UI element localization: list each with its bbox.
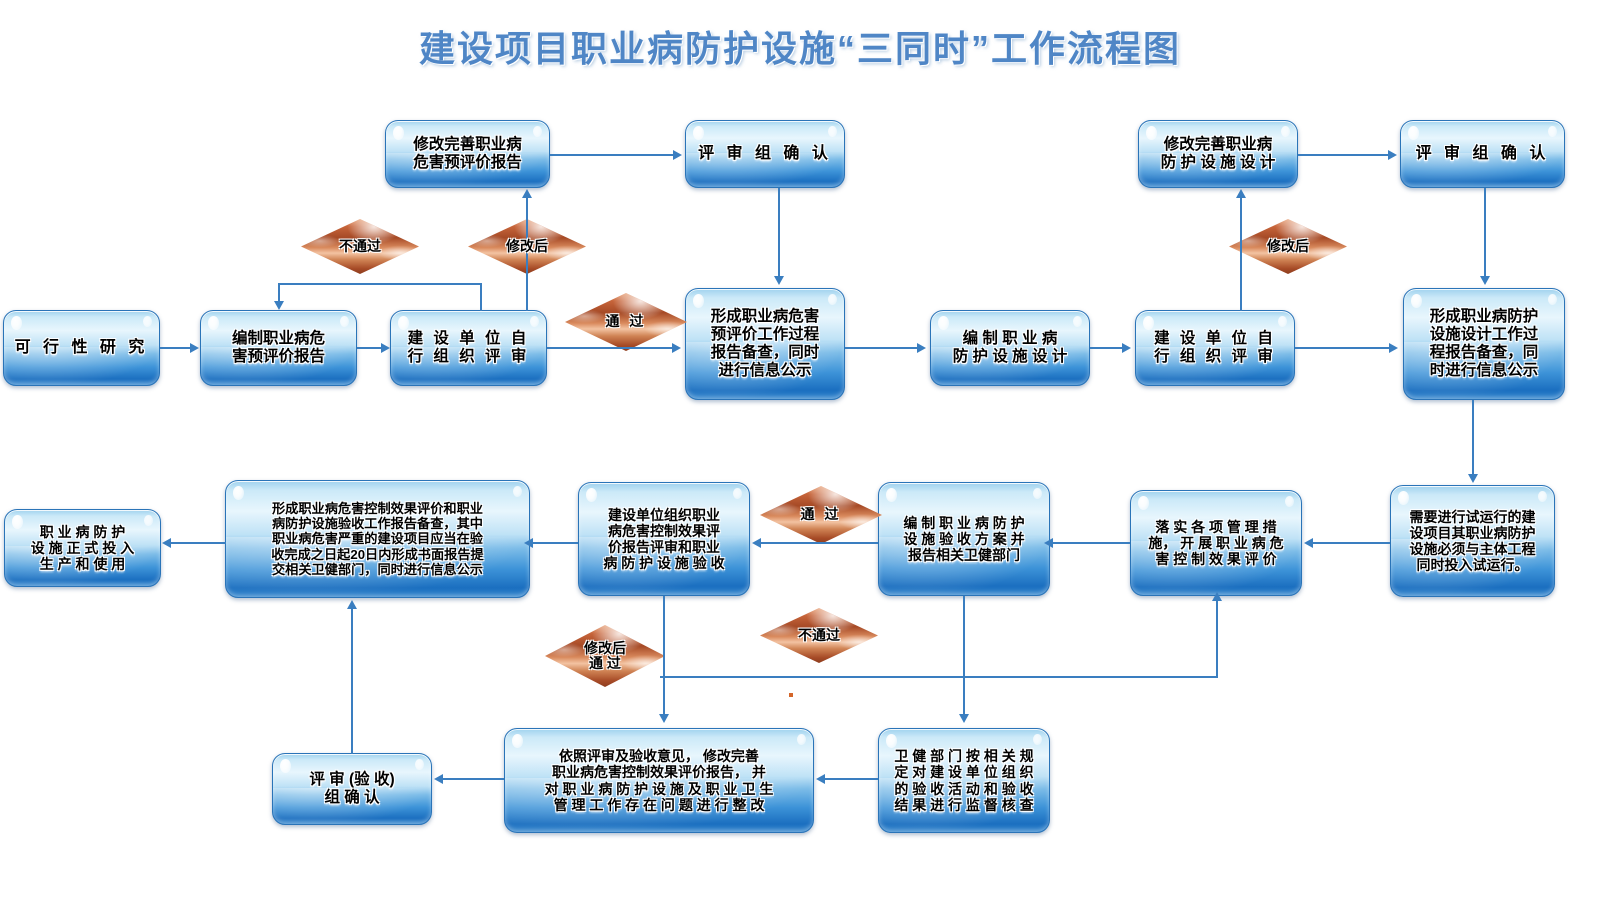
decision-fail-2[interactable]: 不通过 <box>760 608 878 663</box>
node-label: 修改完善职业病 防 护 设 施 设 计 <box>1157 136 1280 172</box>
gloss-highlight-right <box>1033 734 1042 745</box>
gloss-highlight-right <box>1548 294 1557 305</box>
node-preassessment-process-report[interactable]: 形成职业病危害 预评价工作过程 报告备查，同时 进行信息公示 <box>685 288 845 400</box>
decision-pass-1[interactable]: 通 过 <box>565 293 687 351</box>
edge-arrowhead <box>1388 150 1397 160</box>
edge-arrowhead <box>434 774 443 784</box>
gloss-highlight-left <box>1408 126 1419 140</box>
decision-label: 修改后 <box>1267 239 1309 254</box>
node-review-acceptance-group-confirm[interactable]: 评 审 (验 收) 组 确 认 <box>272 753 432 825</box>
decision-pass-2[interactable]: 通 过 <box>760 486 882 544</box>
gloss-highlight-left <box>512 734 523 748</box>
gloss-highlight-right <box>533 126 542 137</box>
gloss-highlight-left <box>1143 316 1154 330</box>
flowchart-canvas: 建设项目职业病防护设施“三同时”工作流程图 修改完善职业病 危害预评价报告 评 … <box>0 0 1600 900</box>
node-label: 建 设 单 位 自 行 组 织 评 审 <box>1150 330 1280 366</box>
edge-acceptance-to-workreport <box>532 542 578 544</box>
edge-confirm2-to-report2 <box>1484 188 1486 278</box>
edge-arrowhead <box>274 301 284 310</box>
edge-fail-loop-across <box>278 283 482 285</box>
edge-workreport-to-production <box>170 542 226 544</box>
gloss-highlight-left <box>693 126 704 140</box>
gloss-highlight-right <box>1538 491 1547 502</box>
decision-fail-1[interactable]: 不通过 <box>301 219 419 274</box>
edge-arrowhead <box>1236 189 1246 198</box>
edge-arrowhead <box>347 600 357 609</box>
edge-report1-to-design <box>845 347 919 349</box>
decision-label: 不通过 <box>339 239 381 254</box>
gloss-highlight-left <box>1138 496 1149 510</box>
node-label: 形成职业病危害控制效果评价和职业 病防护设施验收工作报告备查，其中 职业病危害严… <box>267 501 487 578</box>
gloss-highlight-left <box>693 294 704 308</box>
node-label: 职 业 病 防 护 设 施 正 式 投 入 生 产 和 使 用 <box>27 524 138 573</box>
node-label: 需要进行试运行的建 设项目其职业病防护 设施必须与主体工程 同时投入试运行。 <box>1406 509 1540 574</box>
edge-design-to-review2 <box>1090 347 1124 349</box>
edge-review2-to-report2 <box>1295 347 1391 349</box>
edge-arrowhead <box>1480 276 1490 285</box>
gloss-highlight-left <box>280 759 291 773</box>
edge-arrowhead <box>774 276 784 285</box>
edge-confirm1-to-report1 <box>778 188 780 278</box>
node-label: 卫 健 部 门 按 相 关 规 定 对 建 设 单 位 组 织 的 验 收 活 … <box>890 748 1037 813</box>
gloss-highlight-right <box>733 488 742 499</box>
gloss-highlight-right <box>1033 488 1042 499</box>
edge-arrowhead <box>816 774 825 784</box>
gloss-highlight-left <box>12 515 23 529</box>
gloss-highlight-left <box>11 316 22 330</box>
decision-after-revision-2[interactable]: 修改后 <box>1229 219 1347 274</box>
decision-label: 修改后 <box>506 239 548 254</box>
gloss-highlight-left <box>1146 126 1157 140</box>
stray-marker-dot <box>789 693 793 697</box>
gloss-highlight-left <box>393 126 404 140</box>
decision-label: 不通过 <box>798 628 840 643</box>
gloss-highlight-left <box>208 316 219 330</box>
edge-plan-to-acceptance <box>760 542 878 544</box>
edge-fail-loop-up <box>480 283 482 311</box>
node-acceptance-work-report[interactable]: 形成职业病危害控制效果评价和职业 病防护设施验收工作报告备查，其中 职业病危害严… <box>225 480 530 598</box>
edge-rectify-to-group-confirm <box>442 778 504 780</box>
node-label: 依照评审及验收意见， 修改完善 职业病危害控制效果评价报告， 并 对 职 业 病… <box>541 748 778 813</box>
node-prepare-protection-design[interactable]: 编 制 职 业 病 防 护 设 施 设 计 <box>930 310 1090 386</box>
gloss-highlight-left <box>1411 294 1422 308</box>
edge-arrowhead <box>752 538 761 548</box>
node-rectify-per-review-opinions[interactable]: 依照评审及验收意见， 修改完善 职业病危害控制效果评价报告， 并 对 职 业 病… <box>504 728 814 833</box>
edge-feedback-bus-riser <box>1216 600 1218 678</box>
edge-prepare-to-review1 <box>357 347 383 349</box>
edge-arrowhead <box>1389 343 1398 353</box>
decision-pass-after-revision[interactable]: 修改后 通 过 <box>545 625 665 687</box>
gloss-highlight-left <box>886 734 897 748</box>
edge-arrowhead <box>162 538 171 548</box>
gloss-highlight-left <box>398 316 409 330</box>
node-facilities-into-production[interactable]: 职 业 病 防 护 设 施 正 式 投 入 生 产 和 使 用 <box>4 509 161 587</box>
edge-report2-to-trial <box>1472 400 1474 476</box>
gloss-highlight-left <box>586 488 597 502</box>
node-label: 编制职业病危 害预评价报告 <box>228 330 329 366</box>
decision-label: 通 过 <box>606 314 647 329</box>
gloss-highlight-right <box>828 294 837 305</box>
edge-arrowhead <box>381 343 390 353</box>
node-label: 形成职业病危害 预评价工作过程 报告备查，同时 进行信息公示 <box>707 308 824 380</box>
edge-review2-to-revise-design <box>1240 197 1242 311</box>
edge-arrowhead <box>1044 538 1053 548</box>
node-label: 修改完善职业病 危害预评价报告 <box>409 136 526 172</box>
edge-arrowhead <box>1122 343 1131 353</box>
node-label: 建 设 单 位 自 行 组 织 评 审 <box>404 330 534 366</box>
gloss-highlight-left <box>233 486 244 500</box>
node-prepare-preassessment-report[interactable]: 编制职业病危 害预评价报告 <box>200 310 357 386</box>
node-label: 评 审 组 确 认 <box>1412 145 1554 164</box>
gloss-highlight-right <box>415 759 424 770</box>
node-owner-organizes-review-2[interactable]: 建 设 单 位 自 行 组 织 评 审 <box>1135 310 1295 386</box>
node-owner-organizes-review-1[interactable]: 建 设 单 位 自 行 组 织 评 审 <box>390 310 547 386</box>
page-title: 建设项目职业病防护设施“三同时”工作流程图 <box>0 20 1600 72</box>
edge-arrowhead <box>672 343 681 353</box>
node-review-group-confirm-2[interactable]: 评 审 组 确 认 <box>1400 120 1565 188</box>
node-label: 编 制 职 业 病 防 护 设 施 设 计 <box>949 330 1072 366</box>
node-label: 编 制 职 业 病 防 护 设 施 验 收 方 案 并 报告相关卫健部门 <box>899 515 1028 564</box>
node-revise-preassessment-report[interactable]: 修改完善职业病 危害预评价报告 <box>385 120 550 188</box>
decision-label: 通 过 <box>801 507 842 522</box>
edge-feedback-bus <box>660 676 1218 678</box>
edge-feasibility-to-prepare <box>160 347 192 349</box>
edge-supervision-to-rectify <box>824 778 878 780</box>
node-prepare-acceptance-plan[interactable]: 编 制 职 业 病 防 护 设 施 验 收 方 案 并 报告相关卫健部门 <box>878 482 1050 596</box>
node-trial-operation-requirement[interactable]: 需要进行试运行的建 设项目其职业病防护 设施必须与主体工程 同时投入试运行。 <box>1390 485 1555 597</box>
edge-arrowhead <box>917 343 926 353</box>
edge-implement-to-plan <box>1052 542 1130 544</box>
edge-arrowhead <box>1468 474 1478 483</box>
node-implement-management-measures[interactable]: 落 实 各 项 管 理 措 施， 开 展 职 业 病 危 害 控 制 效 果 评… <box>1130 490 1302 596</box>
gloss-highlight-right <box>1073 316 1082 327</box>
gloss-highlight-right <box>1285 496 1294 507</box>
node-feasibility-study[interactable]: 可 行 性 研 究 <box>3 310 160 386</box>
gloss-highlight-right <box>1548 126 1557 137</box>
edge-arrowhead <box>959 714 969 723</box>
gloss-highlight-right <box>1281 126 1290 137</box>
edge-pass1-to-report1 <box>547 347 674 349</box>
node-review-group-confirm-1[interactable]: 评 审 组 确 认 <box>685 120 845 188</box>
node-label: 形成职业病防护 设施设计工作过 程报告备查，同 时进行信息公示 <box>1426 308 1543 380</box>
node-health-authority-supervision[interactable]: 卫 健 部 门 按 相 关 规 定 对 建 设 单 位 组 织 的 验 收 活 … <box>878 728 1050 833</box>
gloss-highlight-left <box>938 316 949 330</box>
gloss-highlight-left <box>1398 491 1409 505</box>
gloss-highlight-right <box>530 316 539 327</box>
edge-revise-design-to-confirm2 <box>1298 154 1390 156</box>
gloss-highlight-right <box>143 316 152 327</box>
node-label: 评 审 (验 收) 组 确 认 <box>305 771 398 807</box>
edge-arrowhead <box>190 343 199 353</box>
edge-arrowhead <box>673 150 682 160</box>
edge-group-confirm-to-workreport <box>351 608 353 754</box>
node-label: 可 行 性 研 究 <box>11 339 153 358</box>
edge-arrowhead <box>522 189 532 198</box>
node-label: 建设单位组织职业 病危害控制效果评 价报告评审和职业 病 防 护 设 施 验 收 <box>599 507 728 572</box>
edge-arrowhead <box>1212 592 1222 601</box>
edge-arrowhead <box>659 714 669 723</box>
edge-arrowhead <box>1304 538 1313 548</box>
gloss-highlight-right <box>340 316 349 327</box>
node-revise-protection-design[interactable]: 修改完善职业病 防 护 设 施 设 计 <box>1138 120 1298 188</box>
node-owner-organizes-acceptance[interactable]: 建设单位组织职业 病危害控制效果评 价报告评审和职业 病 防 护 设 施 验 收 <box>578 482 750 596</box>
node-label: 落 实 各 项 管 理 措 施， 开 展 职 业 病 危 害 控 制 效 果 评… <box>1144 519 1287 568</box>
edge-revise-to-confirm1 <box>550 154 675 156</box>
gloss-highlight-right <box>828 126 837 137</box>
gloss-highlight-right <box>1278 316 1287 327</box>
edge-plan-to-supervision <box>963 596 965 716</box>
gloss-highlight-right <box>513 486 522 497</box>
edge-trial-to-implement <box>1312 542 1390 544</box>
node-label: 评 审 组 确 认 <box>694 145 836 164</box>
edge-fail-loop-down <box>278 283 280 303</box>
node-design-process-report[interactable]: 形成职业病防护 设施设计工作过 程报告备查，同 时进行信息公示 <box>1403 288 1565 400</box>
gloss-highlight-right <box>144 515 153 526</box>
decision-label: 修改后 通 过 <box>584 641 626 671</box>
edge-arrowhead <box>524 538 533 548</box>
edge-acceptance-to-rectify <box>663 596 665 716</box>
gloss-highlight-left <box>886 488 897 502</box>
gloss-highlight-right <box>797 734 806 745</box>
